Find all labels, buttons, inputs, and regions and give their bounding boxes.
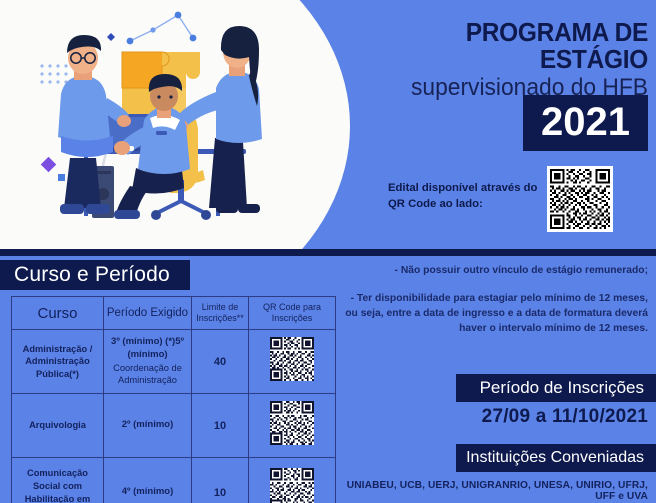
- col-header-limite-line2: Inscrições**: [194, 313, 246, 324]
- header-title-block: PROGRAMA DE ESTÁGIO supervisionado do HF…: [352, 20, 648, 101]
- decorative-dot-grid: [40, 64, 67, 83]
- periodo-inscricoes-bar: Período de Inscrições: [456, 374, 656, 402]
- curso-periodo-bar: Curso e Período: [0, 260, 190, 290]
- qr-code-edital-icon: [550, 169, 610, 229]
- cell-periodo-bold: 3º (mínimo) (*)5º (mínimo): [106, 336, 189, 362]
- col-header-limite: Limite de Inscrições**: [192, 297, 249, 330]
- cell-periodo: 4º (mínimo): [104, 458, 192, 503]
- decorative-network-lines: [127, 12, 197, 45]
- cell-limite: 10: [192, 394, 249, 458]
- table-row: Administração / Administração Pública(*)…: [12, 330, 336, 394]
- courses-table: Curso Período Exigido Limite de Inscriçõ…: [11, 296, 336, 503]
- woman-skirt: [209, 138, 247, 209]
- qr-code-inscricao-arquivologia-icon: [270, 401, 314, 445]
- requirements-spacer: [336, 279, 648, 292]
- page-title: PROGRAMA DE ESTÁGIO: [364, 20, 648, 74]
- chair-base: [157, 201, 205, 213]
- header-band: PROGRAMA DE ESTÁGIO supervisionado do HF…: [0, 0, 656, 249]
- qr-code-inscricao-administracao-icon: [270, 337, 314, 381]
- seated-man-hand: [114, 141, 130, 155]
- cell-qrcode[interactable]: [249, 330, 336, 394]
- cell-periodo: 2º (mínimo): [104, 394, 192, 458]
- teamwork-puzzle-illustration: [30, 8, 305, 243]
- table-row: Arquivologia 2º (mínimo) 10: [12, 394, 336, 458]
- cell-curso: Comunicação Social com Habilitação em Jo…: [12, 458, 104, 503]
- col-header-periodo: Período Exigido: [104, 297, 192, 330]
- cell-qrcode[interactable]: [249, 458, 336, 503]
- table-row: Comunicação Social com Habilitação em Jo…: [12, 458, 336, 503]
- poster-canvas: PROGRAMA DE ESTÁGIO supervisionado do HF…: [0, 0, 656, 503]
- col-header-qrcode-line1: QR Code para: [251, 302, 333, 313]
- year-badge: 2021: [523, 95, 648, 151]
- qr-code-inscricao-jornalismo-icon: [270, 468, 314, 503]
- instituicoes-conveniadas-bar: Instituições Conveniadas: [456, 444, 656, 472]
- cell-curso: Arquivologia: [12, 394, 104, 458]
- badge: [156, 131, 167, 135]
- edital-instruction-text: Edital disponível através do QR Code ao …: [388, 180, 540, 213]
- cell-periodo: 3º (mínimo) (*)5º (mínimo) Coordenação d…: [104, 330, 192, 394]
- table-header-row: Curso Período Exigido Limite de Inscriçõ…: [12, 297, 336, 330]
- col-header-qrcode: QR Code para Inscrições: [249, 297, 336, 330]
- inscricoes-dates: 27/09 a 11/10/2021: [356, 406, 648, 428]
- qr-code-edital[interactable]: [547, 166, 613, 232]
- col-header-limite-line1: Limite de: [194, 302, 246, 313]
- person-standing-left: [58, 35, 131, 214]
- left-man-hand: [117, 115, 131, 127]
- left-man-shirt: [58, 76, 110, 142]
- cell-qrcode[interactable]: [249, 394, 336, 458]
- col-header-qrcode-line2: Inscrições: [251, 313, 333, 324]
- cell-periodo-normal: Coordenação de Administração: [106, 362, 189, 387]
- cell-periodo-bold: 4º (mínimo): [106, 486, 189, 499]
- requirement-item-2: - Ter disponibilidade para estagiar pelo…: [336, 292, 648, 337]
- cell-limite: 10: [192, 458, 249, 503]
- col-header-curso: Curso: [12, 297, 104, 330]
- cell-curso: Administração / Administração Pública(*): [12, 330, 104, 394]
- instituicoes-list: UNIABEU, UCB, UERJ, UNIGRANRIO, UNESA, U…: [340, 480, 648, 502]
- requirements-block: - Não possuir outro vínculo de estágio r…: [336, 264, 648, 337]
- requirement-item-1: - Não possuir outro vínculo de estágio r…: [336, 264, 648, 279]
- section-divider: [0, 249, 656, 256]
- cell-limite: 40: [192, 330, 249, 394]
- cell-periodo-bold: 2º (mínimo): [106, 419, 189, 432]
